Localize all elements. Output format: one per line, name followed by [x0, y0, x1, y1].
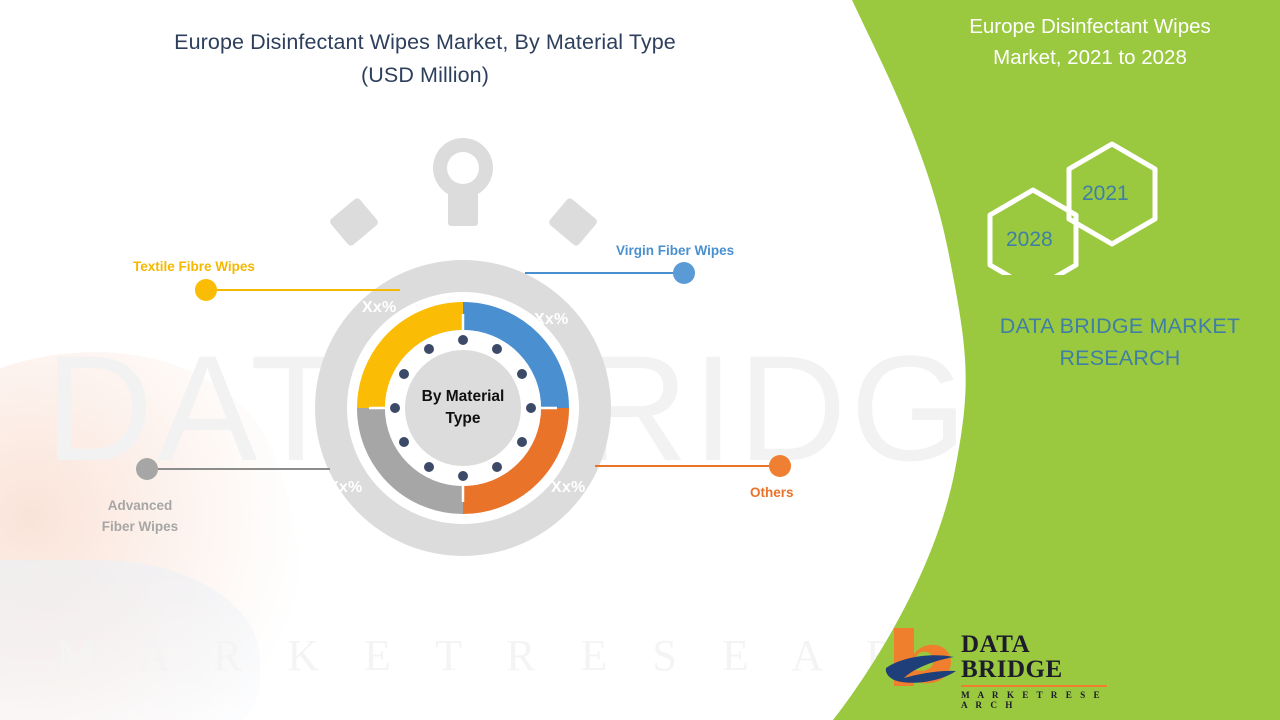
callout-dot-virgin-fiber-wipes	[673, 262, 695, 284]
callout-dot-others	[769, 455, 791, 477]
callout-label-virgin-fiber-wipes: Virgin Fiber Wipes	[616, 243, 734, 258]
callout-label-textile-fibre-wipes: Textile Fibre Wipes	[133, 259, 255, 274]
callout-label-advanced-fiber-wipes: Advanced Fiber Wipes	[92, 496, 188, 538]
infographic-canvas: DATA BRIDGE M A R K E T R E S E A R C H …	[0, 0, 1280, 720]
donut-center-label-line2: Type	[383, 408, 543, 430]
donut-value-advanced-fiber-wipes: Xx%	[328, 479, 362, 497]
callout-dot-advanced-fiber-wipes	[136, 458, 158, 480]
donut-value-others: Xx%	[551, 479, 585, 497]
stopwatch-crown-icon	[433, 138, 493, 226]
callout-label-others: Others	[750, 485, 794, 500]
donut-value-virgin-fiber-wipes: Xx%	[534, 311, 568, 329]
donut-center-label-line1: By Material	[383, 386, 543, 408]
donut-value-textile-fibre-wipes: Xx%	[362, 299, 396, 317]
donut-center-label: By Material Type	[383, 386, 543, 430]
callout-dot-textile-fibre-wipes	[195, 279, 217, 301]
donut-chart	[0, 0, 1280, 720]
